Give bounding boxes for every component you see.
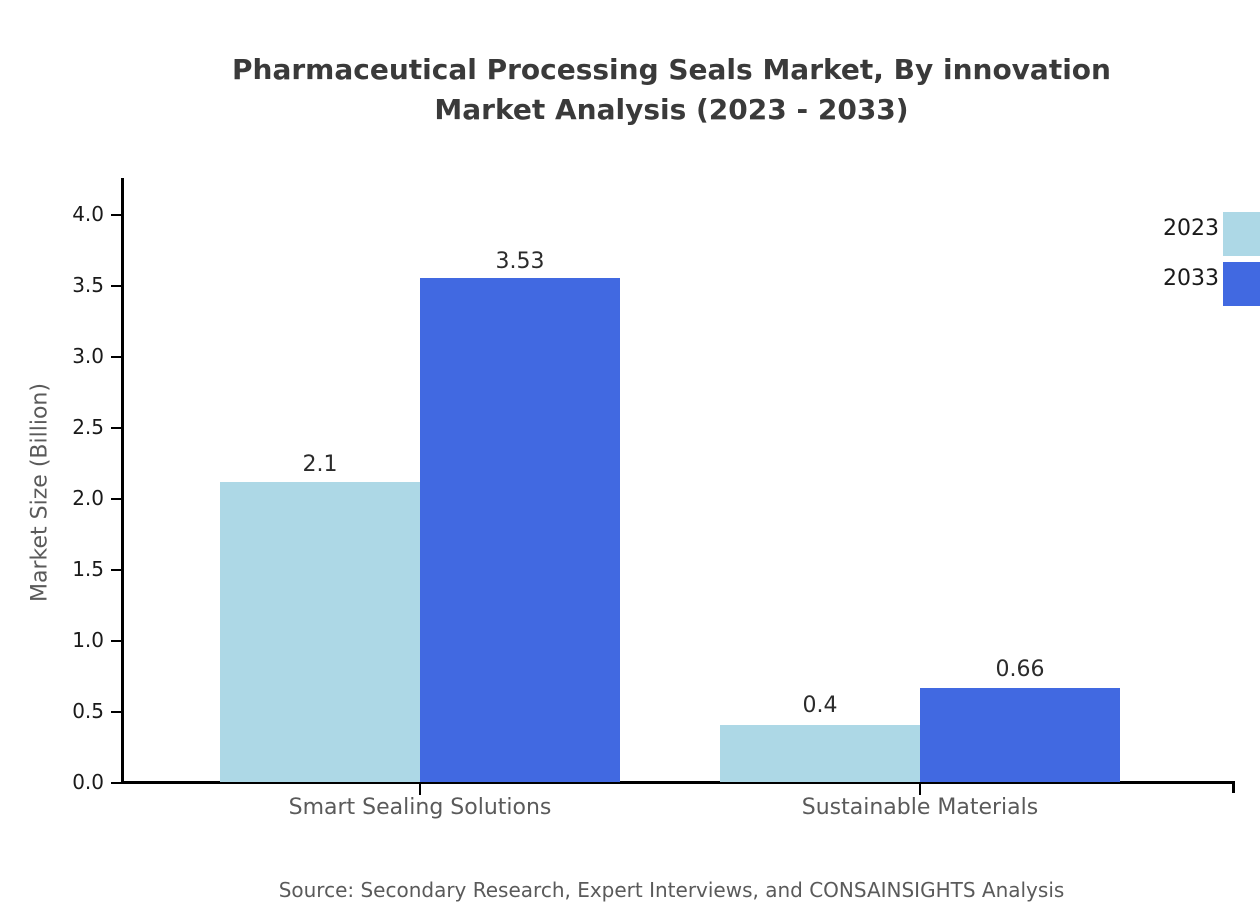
y-axis-spine	[121, 178, 124, 784]
bar-sustainable-materials-2023	[720, 725, 920, 782]
chart-legend: 2023 2033	[1131, 216, 1260, 316]
legend-swatch-2033	[1223, 262, 1260, 306]
y-tick-label: 1.0	[0, 628, 104, 652]
legend-item-2023: 2023	[1131, 216, 1260, 266]
y-tick-label: 4.0	[0, 202, 104, 226]
y-tick-mark	[111, 214, 122, 216]
bar-smart-sealing-solutions-2033	[420, 278, 620, 782]
y-tick-label: 0.0	[0, 770, 104, 794]
x-tick-label-sustainable-materials: Sustainable Materials	[802, 795, 1038, 820]
y-tick-mark	[111, 640, 122, 642]
y-tick-label: 0.5	[0, 699, 104, 723]
bar-value-label: 2.1	[303, 452, 338, 477]
bar-value-label: 0.4	[803, 693, 838, 718]
legend-item-2033: 2033	[1131, 266, 1260, 316]
chart-title-line-2: Market Analysis (2023 - 2033)	[0, 90, 1260, 130]
bar-sustainable-materials-2033	[920, 688, 1120, 782]
legend-label-2023: 2023	[1163, 216, 1219, 241]
y-tick-mark	[111, 498, 122, 500]
x-tick-label-smart-sealing-solutions: Smart Sealing Solutions	[289, 795, 552, 820]
chart-title-line-1: Pharmaceutical Processing Seals Market, …	[232, 53, 1111, 86]
legend-label-2033: 2033	[1163, 266, 1219, 291]
y-tick-label: 3.0	[0, 344, 104, 368]
x-axis-end-tick	[1232, 781, 1235, 793]
x-tick-mark	[419, 784, 421, 795]
y-tick-mark	[111, 711, 122, 713]
bar-value-label: 3.53	[496, 249, 545, 274]
y-tick-mark	[111, 285, 122, 287]
y-tick-mark	[111, 569, 122, 571]
bar-value-label: 0.66	[996, 657, 1045, 682]
bar-chart-figure: Pharmaceutical Processing Seals Market, …	[0, 0, 1260, 920]
chart-title: Pharmaceutical Processing Seals Market, …	[0, 50, 1260, 130]
y-tick-mark	[111, 356, 122, 358]
y-tick-mark	[111, 427, 122, 429]
bar-smart-sealing-solutions-2023	[220, 482, 420, 782]
y-tick-mark	[111, 782, 122, 784]
y-tick-label: 2.0	[0, 486, 104, 510]
y-tick-label: 3.5	[0, 273, 104, 297]
x-tick-mark	[919, 784, 921, 795]
y-tick-label: 1.5	[0, 557, 104, 581]
source-note: Source: Secondary Research, Expert Inter…	[0, 878, 1260, 902]
y-tick-label: 2.5	[0, 415, 104, 439]
legend-swatch-2023	[1223, 212, 1260, 256]
